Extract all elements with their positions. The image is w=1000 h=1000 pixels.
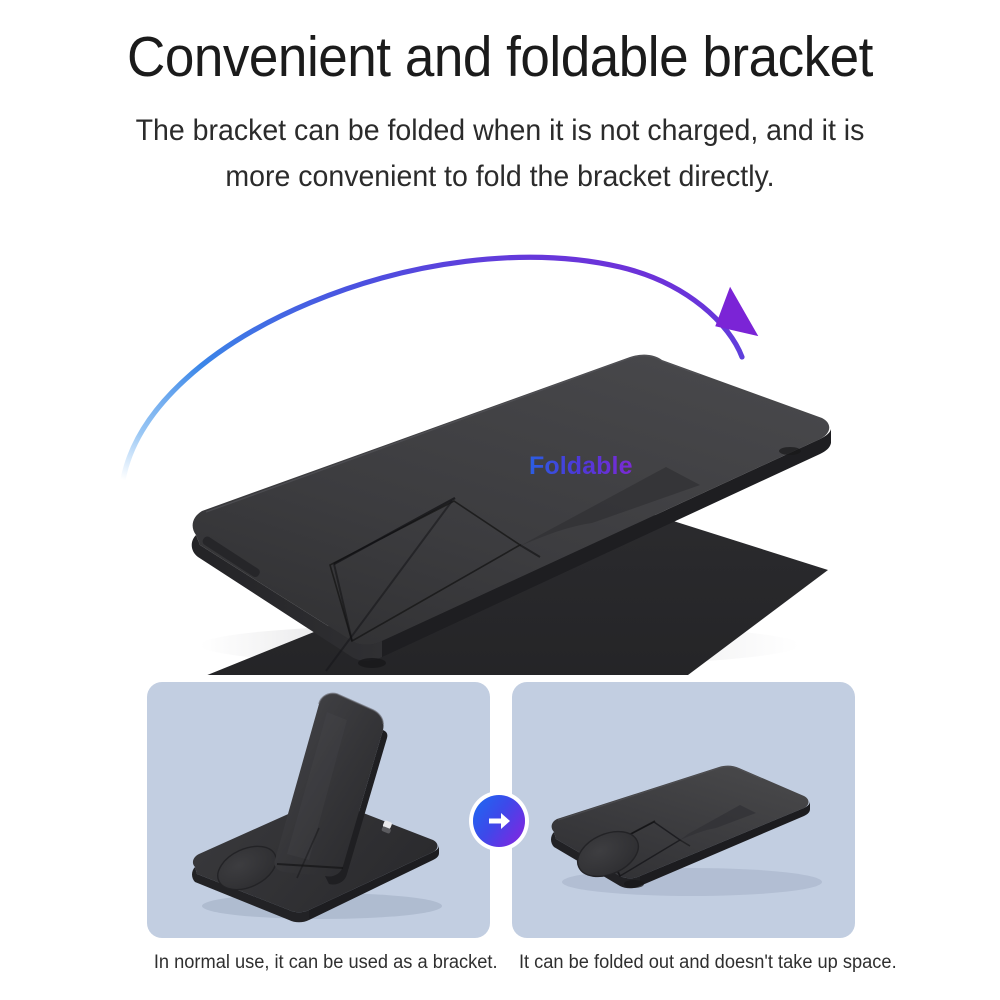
caption-bracket-mode: In normal use, it can be used as a brack… bbox=[154, 950, 483, 976]
subtitle-line-1: The bracket can be folded when it is not… bbox=[136, 114, 865, 147]
hero-illustration: Foldable bbox=[0, 205, 1000, 675]
arrow-right-icon bbox=[484, 806, 514, 836]
page-subtitle: The bracket can be folded when it is not… bbox=[82, 108, 918, 200]
page-title: Convenient and foldable bracket bbox=[35, 24, 965, 90]
product-folded-flat-graphic bbox=[512, 682, 855, 938]
subtitle-line-2: more convenient to fold the bracket dire… bbox=[82, 154, 918, 200]
card-bracket-mode[interactable] bbox=[147, 682, 490, 938]
card-folded-mode[interactable] bbox=[512, 682, 855, 938]
product-folded-pad bbox=[192, 355, 831, 675]
product-bracket-stand-graphic bbox=[147, 682, 490, 938]
card-captions: In normal use, it can be used as a brack… bbox=[0, 950, 1000, 990]
caption-folded-mode: It can be folded out and doesn't take up… bbox=[519, 950, 853, 976]
hero-product-graphic bbox=[0, 205, 1000, 675]
product-feature-page: Convenient and foldable bracket The brac… bbox=[0, 0, 1000, 1000]
arrow-right-badge bbox=[473, 795, 525, 847]
foldable-annotation-label: Foldable bbox=[529, 452, 633, 481]
